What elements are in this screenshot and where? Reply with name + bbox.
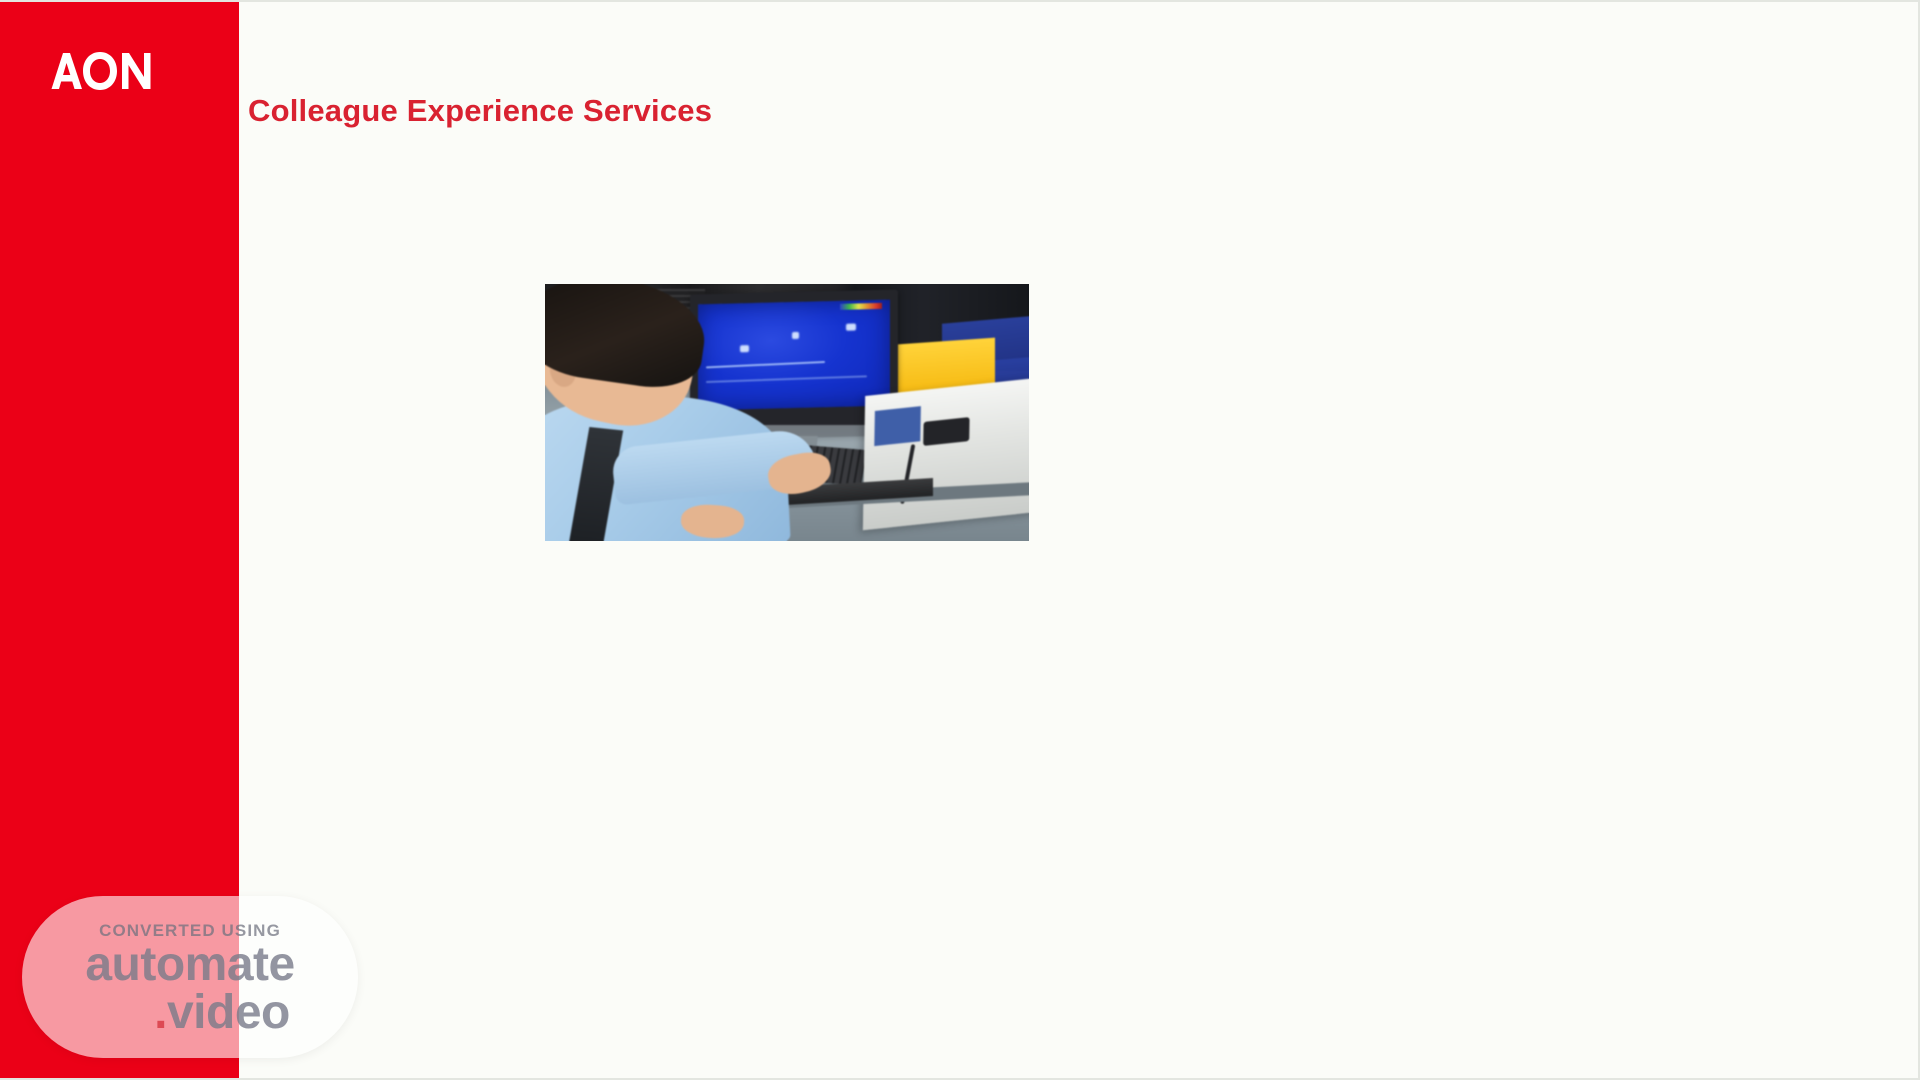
page-title: Colleague Experience Services <box>248 94 712 128</box>
automate-video-watermark: CONVERTED USING automate .video <box>22 896 358 1058</box>
content-photo <box>545 284 1029 541</box>
screen-blip <box>741 345 750 352</box>
instrument-controls <box>924 417 970 446</box>
screen-trace <box>706 375 867 383</box>
watermark-dot: . <box>154 986 167 1039</box>
screen-trace <box>706 361 825 368</box>
watermark-eyebrow: CONVERTED USING <box>99 922 281 939</box>
laptop-screen <box>699 300 890 410</box>
watermark-tld: .video <box>154 989 290 1036</box>
instrument-display <box>875 406 921 446</box>
screen-blip <box>846 324 856 331</box>
photo-scene <box>545 284 1029 541</box>
screen-blip <box>792 331 799 338</box>
slide-canvas: Colleague Experience Services <box>0 0 1920 1080</box>
watermark-tld-text: video <box>167 986 290 1039</box>
aon-logo <box>48 50 154 92</box>
watermark-brand: automate <box>85 941 294 988</box>
benchtop-instrument <box>863 377 1029 529</box>
screen-colorbar <box>840 303 882 309</box>
